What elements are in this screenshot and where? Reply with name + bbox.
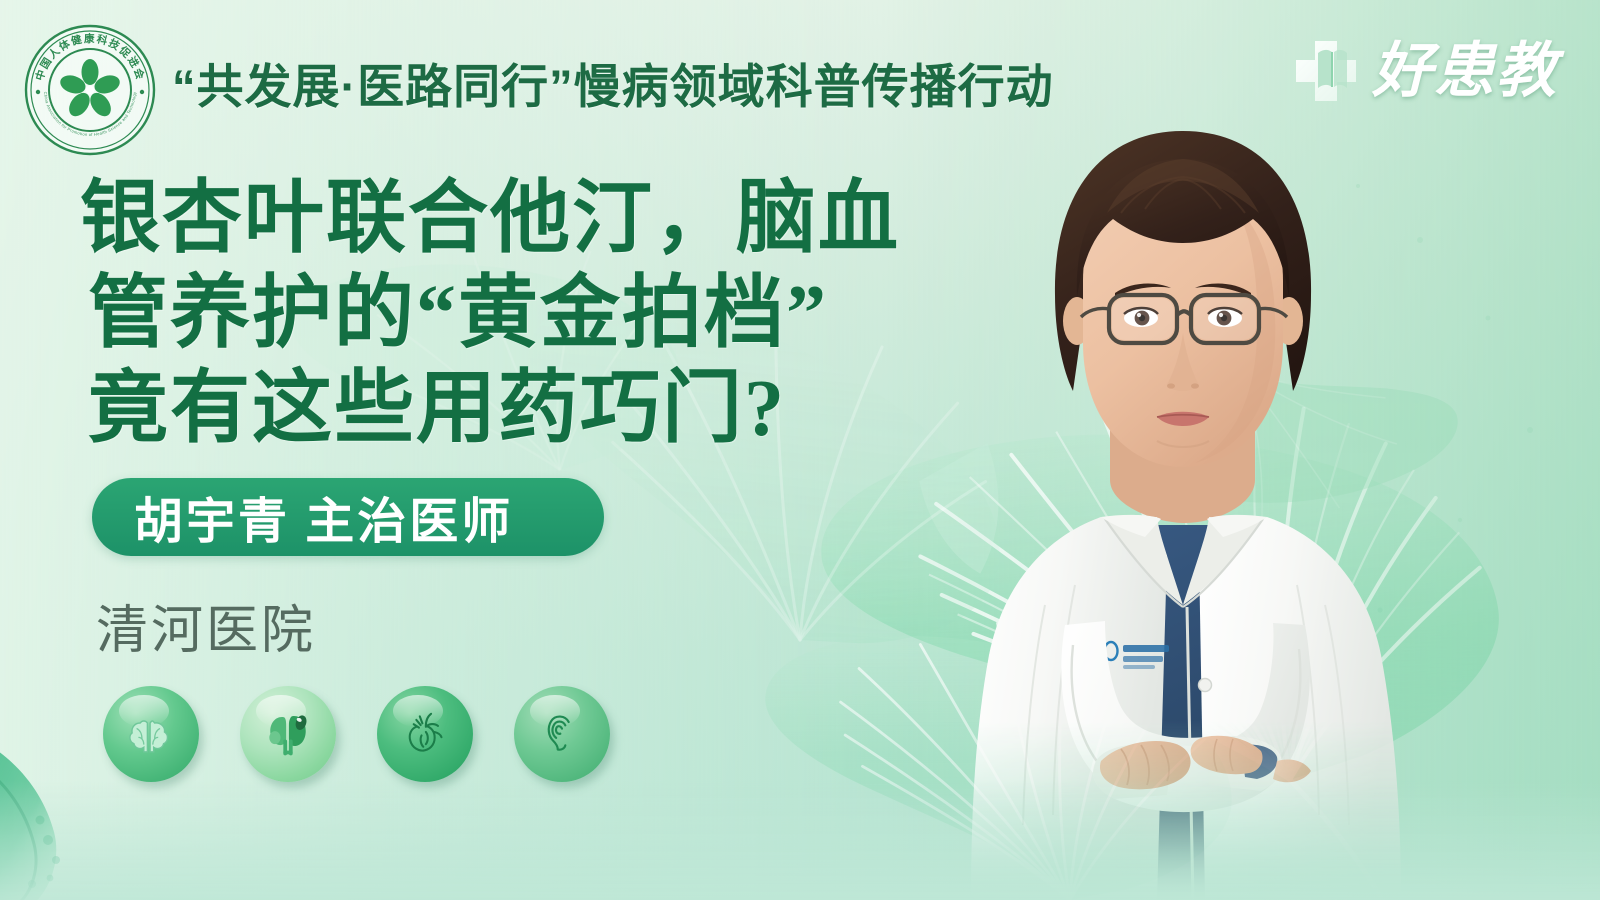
brand-name: 好患教	[1372, 41, 1558, 101]
medical-cross-book-icon	[1290, 35, 1362, 107]
organ-chip-ear[interactable]	[514, 686, 610, 782]
coat-button	[1199, 679, 1212, 692]
headline-line-3: 竟有这些用药巧门?	[80, 362, 990, 457]
organ-chip-heart[interactable]	[377, 686, 473, 782]
doctor-name-badge: 胡宇青 主治医师	[92, 478, 604, 556]
header: 中国人体健康科技促进会 China Association for Promot…	[0, 0, 1600, 150]
headline: 银杏叶联合他汀，脑血 管养护的“黄金拍档” 竟有这些用药巧门?	[80, 172, 990, 457]
ear-icon	[537, 707, 587, 762]
doctor-name-badge-label: 胡宇青 主治医师	[134, 482, 513, 553]
campaign-title: “共发展·医路同行”慢病领域科普传播行动	[172, 48, 1054, 117]
organ-chip-brain[interactable]	[103, 686, 199, 782]
heart-icon	[399, 706, 451, 763]
headline-line-1: 银杏叶联合他汀，脑血	[80, 172, 990, 267]
leaf-foliage-decor	[0, 720, 120, 900]
kidney-icon	[260, 704, 316, 765]
brain-icon	[124, 705, 178, 764]
organ-chip-kidney[interactable]	[240, 686, 336, 782]
headline-line-2: 管养护的“黄金拍档”	[80, 267, 990, 362]
poster-canvas: 中国人体健康科技促进会 China Association for Promot…	[0, 0, 1600, 900]
org-logo: 中国人体健康科技促进会 China Association for Promot…	[22, 22, 158, 158]
hospital-name: 清河医院	[96, 588, 316, 663]
organ-icon-row	[103, 686, 610, 782]
brand-logo[interactable]: 好患教	[1290, 28, 1570, 114]
